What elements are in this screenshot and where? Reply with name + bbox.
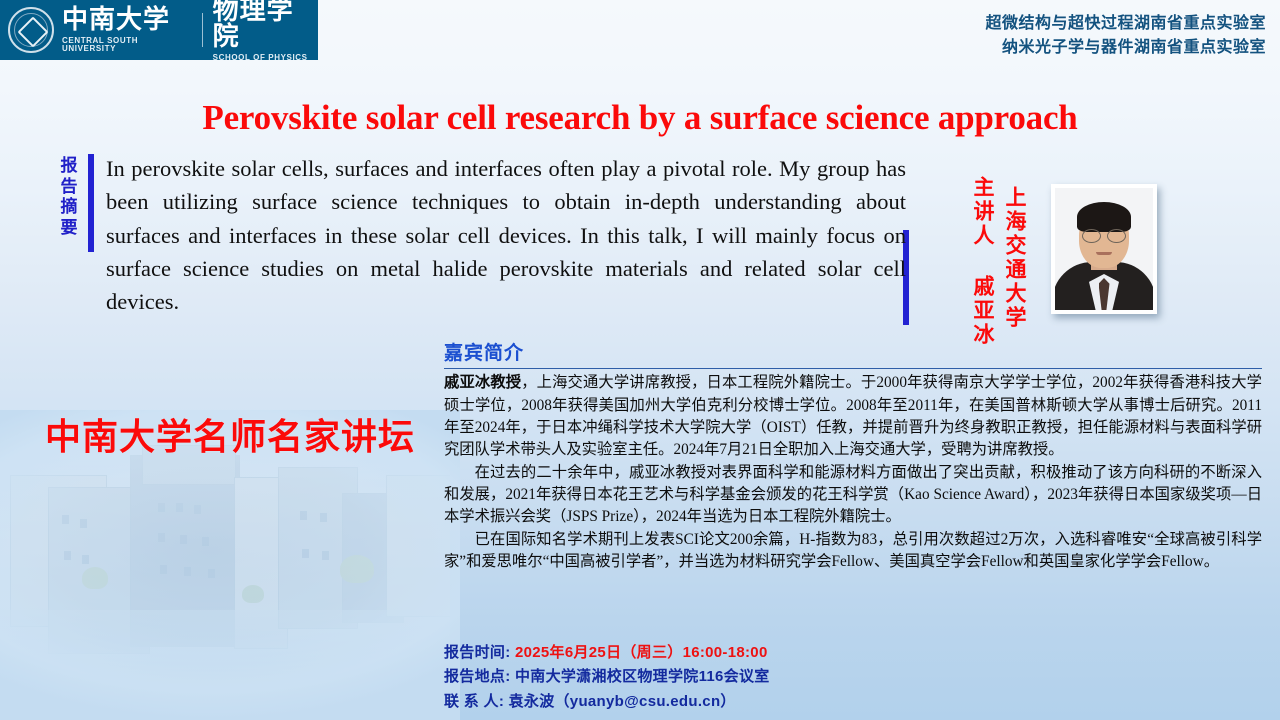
photo-window	[62, 515, 69, 524]
photo-window	[160, 565, 167, 574]
event-place-row: 报告地点: 中南大学潇湘校区物理学院116会议室	[444, 665, 770, 689]
event-contact-value: 袁永波（yuanyb@csu.edu.cn）	[509, 693, 736, 710]
abstract-text: In perovskite solar cells, surfaces and …	[106, 152, 906, 318]
bio-heading-rule	[444, 368, 1262, 370]
guest-bio-section: 嘉宾简介 戚亚冰教授，上海交通大学讲席教授，日本工程院外籍院士。于2000年获得…	[444, 344, 1262, 573]
event-time-value: 2025年6月25日（周三）16:00-18:00	[515, 644, 768, 661]
photo-window	[176, 503, 183, 512]
avatar	[1055, 188, 1153, 310]
photo-tree	[242, 585, 264, 603]
event-contact-label: 联 系 人:	[444, 693, 504, 710]
abstract-section: 报告摘要 In perovskite solar cells, surfaces…	[58, 152, 938, 327]
speaker-affiliation: 上海交通大学	[1000, 186, 1030, 330]
bio-paragraph-2: 在过去的二十余年中，戚亚冰教授对表界面科学和能源材料方面做出了突出贡献，积极推动…	[444, 462, 1262, 529]
physics-building-photo	[0, 415, 450, 720]
abstract-label: 报告摘要	[58, 156, 80, 239]
photo-window	[158, 533, 165, 542]
school-name-en: SCHOOL OF PHYSICS	[213, 54, 318, 62]
key-lab-line-2: 纳米光子学与器件湖南省重点实验室	[985, 36, 1266, 60]
portrait-mouth	[1096, 252, 1112, 255]
event-time-label: 报告时间:	[444, 644, 511, 661]
photo-window	[202, 537, 209, 546]
photo-window	[320, 513, 327, 522]
university-name-block: 中南大学 CENTRAL SOUTH UNIVERSITY	[62, 7, 192, 53]
university-name-cn: 中南大学	[62, 7, 192, 33]
speaker-portrait-frame	[1051, 184, 1157, 314]
photo-window	[184, 567, 191, 576]
key-lab-names: 超微结构与超快过程湖南省重点实验室 纳米光子学与器件湖南省重点实验室	[985, 12, 1266, 60]
bio-heading: 嘉宾简介	[444, 344, 1262, 367]
school-name-cn: 物理学院	[213, 0, 318, 50]
photo-window	[208, 569, 215, 578]
event-details: 报告时间: 2025年6月25日（周三）16:00-18:00 报告地点: 中南…	[444, 641, 770, 714]
bio-paragraph-3: 已在国际知名学术期刊上发表SCI论文200余篇，H-指数为83，总引用次数超过2…	[444, 529, 1262, 574]
speaker-role-and-name: 主讲人 戚亚冰	[968, 176, 998, 347]
university-name-en: CENTRAL SOUTH UNIVERSITY	[62, 37, 192, 53]
university-logo-bar: 中南大学 CENTRAL SOUTH UNIVERSITY 物理学院 SCHOO…	[0, 0, 318, 60]
photo-window	[302, 549, 309, 558]
seminar-poster: 中南大学 CENTRAL SOUTH UNIVERSITY 物理学院 SCHOO…	[0, 0, 1280, 720]
photo-window	[80, 519, 87, 528]
portrait-hair	[1077, 202, 1131, 232]
abstract-accent-bar-left	[88, 154, 94, 252]
bio-paragraph-1: 戚亚冰教授，上海交通大学讲席教授，日本工程院外籍院士。于2000年获得南京大学学…	[444, 372, 1262, 461]
school-name-block: 物理学院 SCHOOL OF PHYSICS	[213, 0, 318, 62]
photo-window	[64, 551, 71, 560]
photo-tree	[82, 567, 108, 589]
photo-tree	[340, 555, 374, 583]
photo-window	[82, 555, 89, 564]
key-lab-line-1: 超微结构与超快过程湖南省重点实验室	[985, 12, 1266, 36]
photo-window	[158, 503, 165, 512]
bio-lead-name: 戚亚冰教授	[444, 374, 521, 391]
photo-building-block	[386, 475, 450, 617]
page-title: Perovskite solar cell research by a surf…	[0, 98, 1280, 138]
bio-paragraph-1-rest: ，上海交通大学讲席教授，日本工程院外籍院士。于2000年获得南京大学学士学位，2…	[444, 374, 1262, 458]
photo-window	[300, 511, 307, 520]
logo-divider	[202, 13, 203, 47]
event-place-label: 报告地点:	[444, 668, 511, 685]
photo-window	[194, 505, 201, 514]
photo-window	[322, 551, 329, 560]
glasses-icon	[1082, 229, 1126, 241]
event-place-value: 中南大学潇湘校区物理学院116会议室	[515, 668, 770, 685]
event-contact-row: 联 系 人: 袁永波（yuanyb@csu.edu.cn）	[444, 690, 770, 714]
photo-window	[180, 535, 187, 544]
event-time-row: 报告时间: 2025年6月25日（周三）16:00-18:00	[444, 641, 770, 665]
forum-title: 中南大学名师名家讲坛	[45, 408, 415, 460]
photo-ground	[0, 610, 450, 720]
csu-seal-icon	[8, 7, 54, 53]
